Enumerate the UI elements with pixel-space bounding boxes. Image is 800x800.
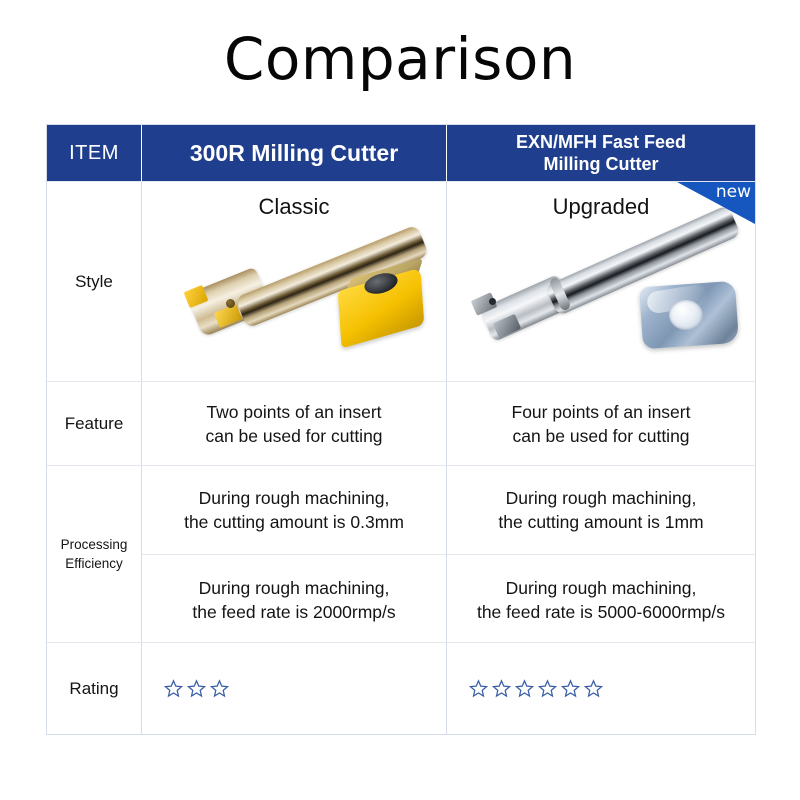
table-row-processing-efficiency: Processing Efficiency During rough machi… [47,465,755,642]
new-badge-label: new [716,183,751,202]
header-item-label: ITEM [47,125,141,181]
rating-cell-col-a [141,643,446,734]
row-label-feature: Feature [47,382,141,465]
star-icon [164,679,183,698]
new-badge: new [677,182,755,224]
processing-r2-col-b-line2: the feed rate is 5000-6000rmp/s [477,600,725,624]
row-label-style: Style [47,182,141,381]
star-icon [584,679,603,698]
blue-insert-hole [669,300,703,330]
page-title: Comparison [0,24,800,94]
rating-stars-col-b [447,643,755,734]
comparison-table: ITEM 300R Milling Cutter EXN/MFH Fast Fe… [46,124,756,735]
feature-col-a-line2: can be used for cutting [205,424,382,448]
processing-r2-col-a-line1: During rough machining, [199,576,390,600]
processing-sub-row-1-col-b: During rough machining, the cutting amou… [447,466,755,554]
style-cell-col-b: new Upgraded [446,182,755,381]
table-row-feature: Feature Two points of an insert can be u… [47,381,755,465]
processing-sub-row-2-col-a: During rough machining, the feed rate is… [142,554,446,644]
feature-cell-col-b: Four points of an insert can be used for… [446,382,755,465]
processing-r1-col-b-line1: During rough machining, [506,486,697,510]
processing-r1-col-b-line2: the cutting amount is 1mm [498,510,703,534]
header-col-a-title: 300R Milling Cutter [141,125,446,181]
processing-r1-col-a-line2: the cutting amount is 0.3mm [184,510,404,534]
processing-r1-col-a-line1: During rough machining, [199,486,390,510]
header-col-b-title: EXN/MFH Fast Feed Milling Cutter [446,125,755,181]
gold-screw-icon [226,299,235,308]
processing-label-line2: Efficiency [61,554,128,573]
feature-col-b-line2: can be used for cutting [512,424,689,448]
star-icon [538,679,557,698]
processing-cell-col-b: During rough machining, the cutting amou… [446,466,755,642]
star-icon [561,679,580,698]
table-row-style: Style Classic new Upgraded [47,181,755,381]
style-cell-col-a: Classic [141,182,446,381]
star-icon [515,679,534,698]
star-icon [187,679,206,698]
processing-cell-col-a: During rough machining, the cutting amou… [141,466,446,642]
processing-sub-row-1-col-a: During rough machining, the cutting amou… [142,466,446,554]
feature-col-a-line1: Two points of an insert [206,400,381,424]
star-icon [469,679,488,698]
processing-label-line1: Processing [61,535,128,554]
star-icon [210,679,229,698]
row-label-rating: Rating [47,643,141,734]
table-row-rating: Rating [47,642,755,734]
feature-col-b-line1: Four points of an insert [512,400,691,424]
processing-r2-col-a-line2: the feed rate is 2000rmp/s [192,600,395,624]
star-icon [492,679,511,698]
row-label-processing-efficiency: Processing Efficiency [47,466,141,642]
table-header-row: ITEM 300R Milling Cutter EXN/MFH Fast Fe… [47,125,755,181]
processing-sub-row-2-col-b: During rough machining, the feed rate is… [447,554,755,644]
rating-stars-col-a [142,643,446,734]
style-caption-col-a: Classic [142,194,446,220]
silver-screw-icon [489,298,496,305]
rating-cell-col-b [446,643,755,734]
feature-cell-col-a: Two points of an insert can be used for … [141,382,446,465]
header-col-b-line2: Milling Cutter [516,153,686,175]
processing-r2-col-b-line1: During rough machining, [506,576,697,600]
header-col-b-line1: EXN/MFH Fast Feed [516,131,686,153]
